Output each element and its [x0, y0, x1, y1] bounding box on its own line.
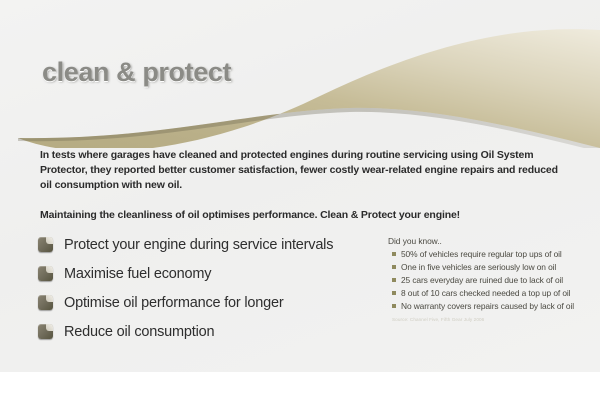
brand-title: clean & protect: [42, 57, 231, 88]
intro-paragraph-2: Maintaining the cleanliness of oil optim…: [40, 208, 560, 223]
gold-square-bullet-icon: [38, 266, 53, 281]
square-bullet-icon: [392, 291, 396, 295]
intro-paragraph-1-tail: , they reported better customer satisfac…: [40, 164, 558, 191]
list-item: 8 out of 10 cars checked needed a top up…: [388, 288, 588, 298]
fact-text: 25 cars everyday are ruined due to lack …: [401, 275, 563, 285]
list-item: Protect your engine during service inter…: [38, 230, 368, 259]
benefit-label: Protect your engine during service inter…: [64, 237, 333, 253]
benefits-list: Protect your engine during service inter…: [38, 230, 368, 346]
gold-square-bullet-icon: [38, 324, 53, 339]
intro-paragraph-1: In tests where garages have cleaned and …: [40, 148, 560, 194]
list-item: Reduce oil consumption: [38, 317, 368, 346]
fact-text: One in five vehicles are seriously low o…: [401, 262, 556, 272]
source-citation: Source: Channel Five, Fifth Gear July 20…: [392, 317, 588, 322]
benefit-label: Reduce oil consumption: [64, 324, 214, 340]
fact-text: No warranty covers repairs caused by lac…: [401, 301, 574, 311]
list-item: 25 cars everyday are ruined due to lack …: [388, 275, 588, 285]
list-item: One in five vehicles are seriously low o…: [388, 262, 588, 272]
presentation-slide: clean & protect In tests where garages h…: [0, 0, 600, 372]
square-bullet-icon: [392, 278, 396, 282]
list-item: Maximise fuel economy: [38, 259, 368, 288]
intro-paragraph-1-lead: In tests where garages have cleaned and …: [40, 149, 481, 161]
gold-square-bullet-icon: [38, 237, 53, 252]
benefit-label: Maximise fuel economy: [64, 266, 211, 282]
intro-copy: In tests where garages have cleaned and …: [40, 148, 560, 223]
benefit-label: Optimise oil performance for longer: [64, 295, 283, 311]
list-item: 50% of vehicles require regular top ups …: [388, 249, 588, 259]
square-bullet-icon: [392, 252, 396, 256]
list-item: Optimise oil performance for longer: [38, 288, 368, 317]
square-bullet-icon: [392, 265, 396, 269]
did-you-know-panel: Did you know.. 50% of vehicles require r…: [388, 236, 588, 322]
square-bullet-icon: [392, 304, 396, 308]
did-you-know-heading: Did you know..: [388, 236, 588, 246]
slide-header-banner: clean & protect: [0, 0, 600, 148]
list-item: No warranty covers repairs caused by lac…: [388, 301, 588, 311]
gold-square-bullet-icon: [38, 295, 53, 310]
fact-text: 50% of vehicles require regular top ups …: [401, 249, 562, 259]
fact-text: 8 out of 10 cars checked needed a top up…: [401, 288, 570, 298]
